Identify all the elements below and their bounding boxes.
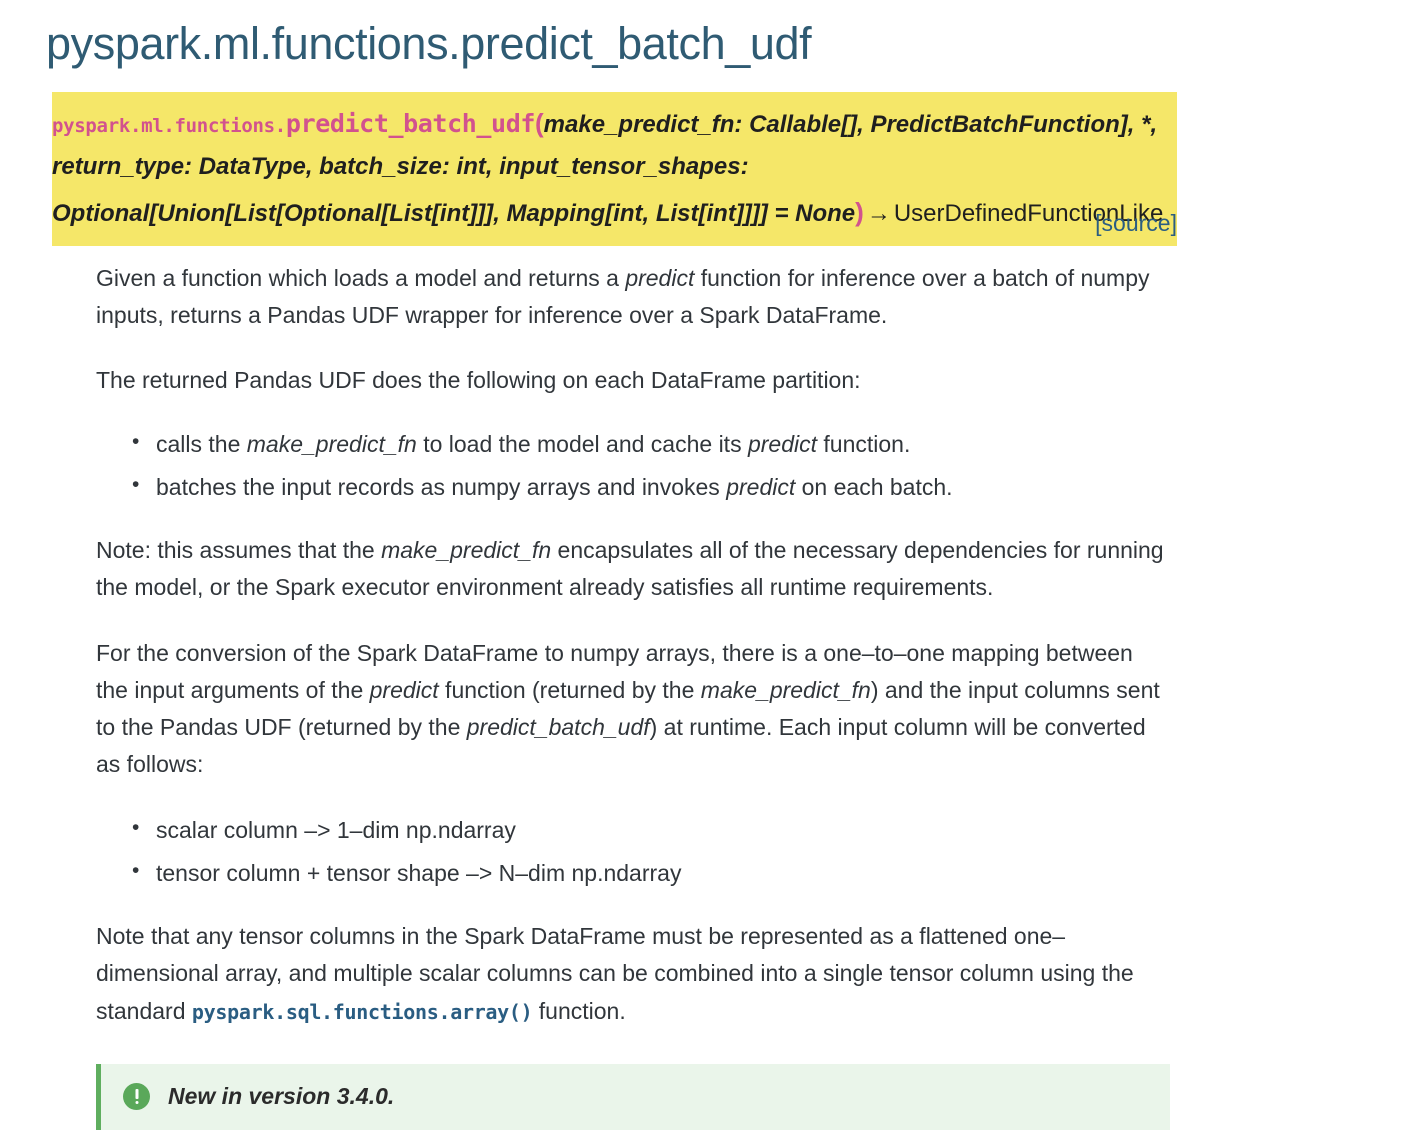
para1-text-before: Given a function which loads a model and…: [96, 265, 625, 291]
list-item: batches the input records as numpy array…: [156, 469, 1170, 506]
signature-block: pyspark.ml.functions.predict_batch_udf(m…: [0, 92, 1410, 246]
signature-open-paren: (: [535, 108, 544, 138]
list-column-conversions: scalar column –> 1–dim np.ndarray tensor…: [96, 812, 1170, 893]
item-text-3: function.: [817, 431, 910, 457]
para4-seg2: function (returned by the: [439, 677, 701, 703]
signature-function-name: predict_batch_udf: [286, 109, 535, 138]
source-link[interactable]: [source]: [1095, 203, 1177, 244]
para5-text-after: function.: [532, 998, 625, 1024]
item-emphasis-1: predict: [726, 474, 795, 500]
paragraph-tensor-note: Note that any tensor columns in the Spar…: [96, 918, 1170, 1030]
list-partition-steps: calls the make_predict_fn to load the mo…: [96, 426, 1170, 507]
signature-text: pyspark.ml.functions.predict_batch_udf(m…: [52, 100, 1165, 236]
item-text-2: to load the model and cache its: [417, 431, 748, 457]
para4-emphasis-2: make_predict_fn: [701, 677, 871, 703]
item-text-1: calls the: [156, 431, 247, 457]
item-text-3: on each batch.: [795, 474, 952, 500]
versionadded-text: New in version 3.4.0.: [168, 1083, 394, 1110]
page-title: pyspark.ml.functions.predict_batch_udf: [0, 0, 1410, 70]
list-item: calls the make_predict_fn to load the mo…: [156, 426, 1170, 463]
code-link-array[interactable]: pyspark.sql.functions.array(): [192, 1000, 533, 1024]
item-text-1: batches the input records as numpy array…: [156, 474, 726, 500]
item-emphasis-1: make_predict_fn: [247, 431, 417, 457]
signature-arrow-icon: →: [864, 200, 894, 227]
paragraph-note-dependencies: Note: this assumes that the make_predict…: [96, 532, 1170, 607]
versionadded-admonition: New in version 3.4.0.: [96, 1064, 1170, 1130]
paragraph-overview: Given a function which loads a model and…: [96, 260, 1170, 335]
paragraph-conversion: For the conversion of the Spark DataFram…: [96, 635, 1170, 784]
signature-highlight: pyspark.ml.functions.predict_batch_udf(m…: [52, 92, 1177, 246]
para1-emphasis: predict: [625, 265, 694, 291]
signature-module-prefix: pyspark.ml.functions.: [52, 115, 286, 137]
documentation-page: pyspark.ml.functions.predict_batch_udf p…: [0, 0, 1410, 1052]
para3-text-before: Note: this assumes that the: [96, 537, 381, 563]
para4-emphasis-3: predict_batch_udf: [467, 714, 650, 740]
signature-close-paren: ): [855, 197, 864, 227]
paragraph-partition-intro: The returned Pandas UDF does the followi…: [96, 362, 1170, 399]
para3-emphasis: make_predict_fn: [381, 537, 551, 563]
doc-body: Given a function which loads a model and…: [0, 260, 1410, 1130]
list-item: scalar column –> 1–dim np.ndarray: [156, 812, 1170, 849]
para4-emphasis-1: predict: [370, 677, 439, 703]
exclamation-circle-icon: [123, 1083, 150, 1110]
item-emphasis-2: predict: [748, 431, 817, 457]
list-item: tensor column + tensor shape –> N–dim np…: [156, 855, 1170, 892]
